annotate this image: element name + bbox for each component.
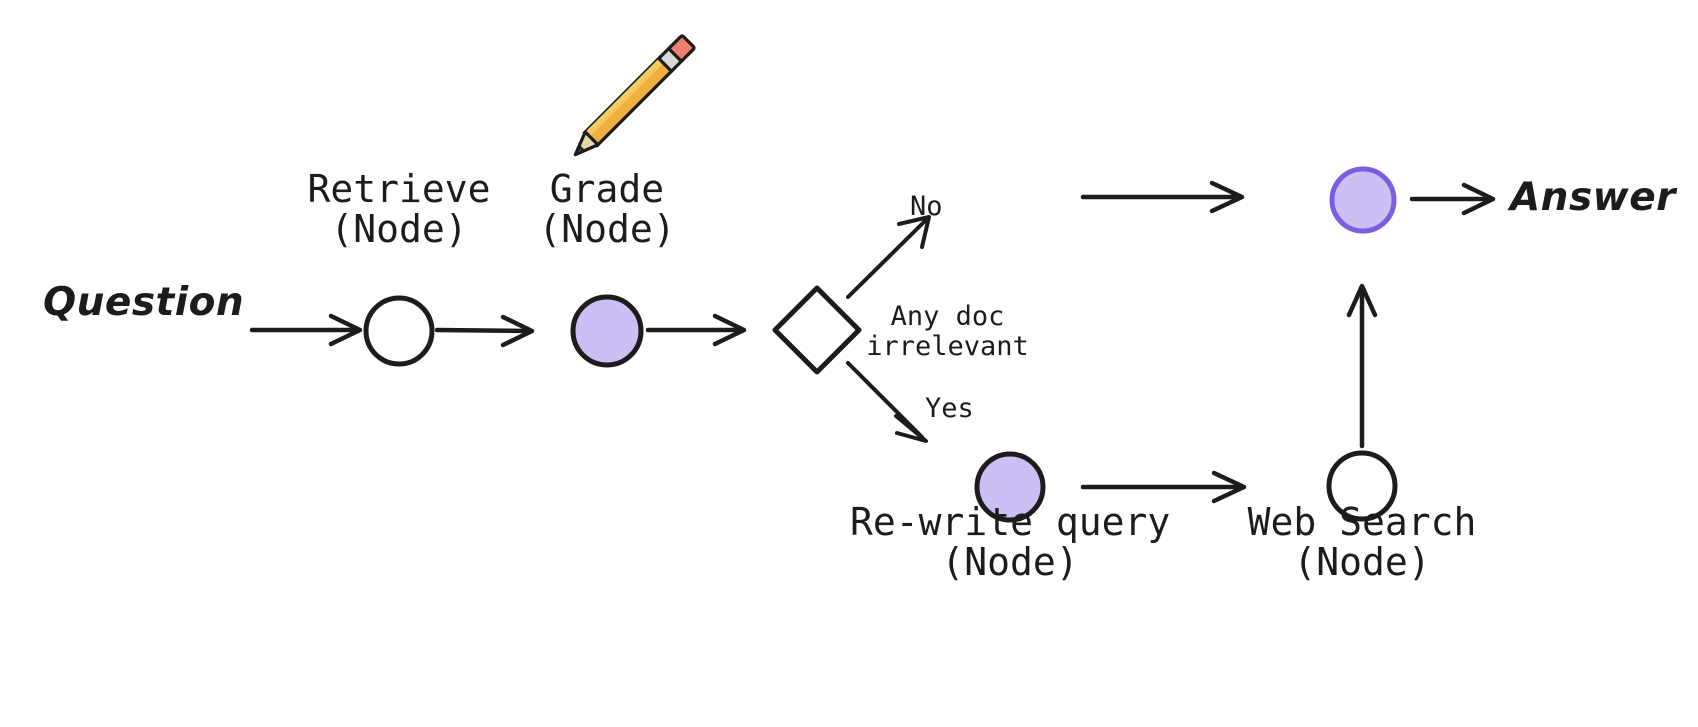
edge-question-to-retrieve bbox=[252, 316, 360, 344]
node-label-grade-kind: (Node) bbox=[497, 205, 717, 254]
node-generate[interactable] bbox=[1332, 169, 1394, 231]
node-label-retrieve-kind: (Node) bbox=[289, 205, 509, 254]
decision-question-line2: irrelevant bbox=[840, 330, 1055, 365]
edge-retrieve-to-grade bbox=[437, 317, 532, 345]
node-label-rewrite-kind: (Node) bbox=[850, 538, 1170, 587]
edge-decision-yes bbox=[848, 363, 926, 441]
terminal-label-question: Question bbox=[43, 280, 244, 325]
edge-decision-no bbox=[848, 217, 929, 297]
node-retrieve[interactable] bbox=[366, 298, 432, 364]
edge-rewrite-to-websearch bbox=[1083, 473, 1244, 501]
branch-label-no: No bbox=[910, 190, 990, 225]
edge-grade-to-decision bbox=[648, 316, 744, 344]
terminal-label-answer: Answer bbox=[1510, 175, 1676, 220]
node-label-websearch-kind: (Node) bbox=[1232, 538, 1492, 587]
pencil-icon bbox=[569, 35, 695, 161]
edge-no-to-generate bbox=[1083, 183, 1242, 211]
diagram-canvas: Question Answer Retrieve (Node) Grade (N… bbox=[0, 0, 1698, 727]
edge-generate-to-answer bbox=[1412, 185, 1493, 213]
node-grade[interactable] bbox=[573, 297, 641, 365]
branch-label-yes: Yes bbox=[925, 392, 1005, 427]
edge-websearch-to-generate bbox=[1349, 286, 1375, 446]
